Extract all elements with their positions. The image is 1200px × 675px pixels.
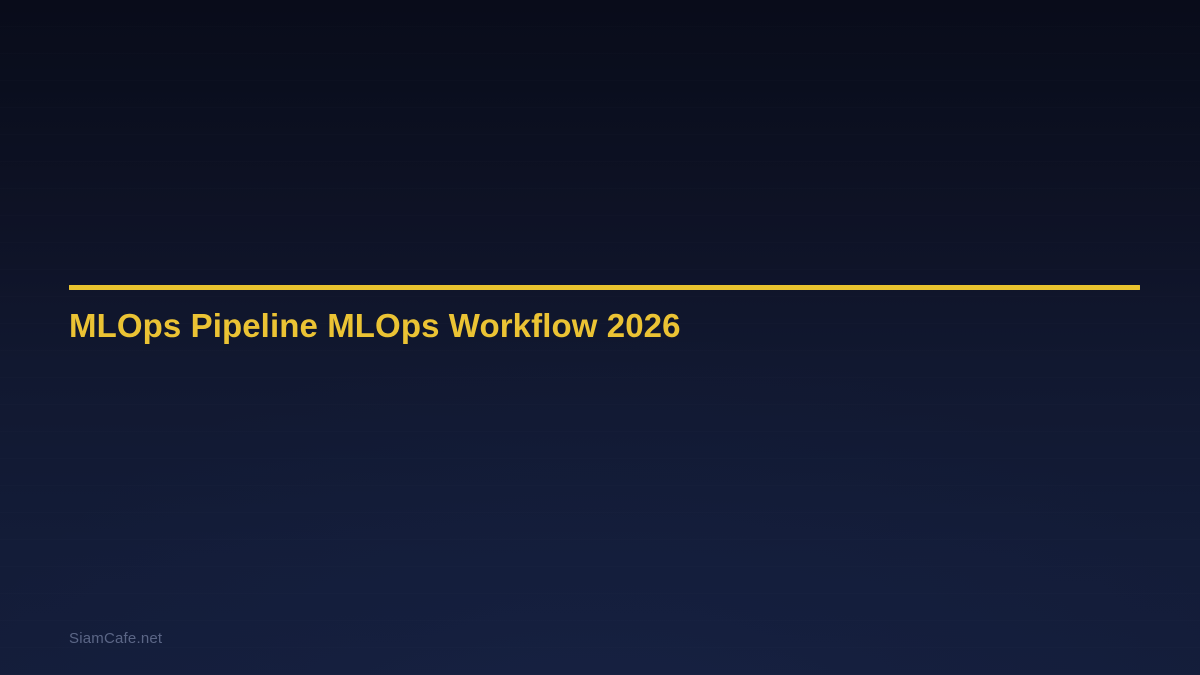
slide-title: MLOps Pipeline MLOps Workflow 2026 [69, 290, 1140, 346]
presentation-slide: MLOps Pipeline MLOps Workflow 2026 SiamC… [0, 0, 1200, 675]
background-glow [0, 338, 1200, 675]
watermark-label: SiamCafe.net [69, 630, 162, 647]
title-block: MLOps Pipeline MLOps Workflow 2026 [69, 285, 1140, 346]
